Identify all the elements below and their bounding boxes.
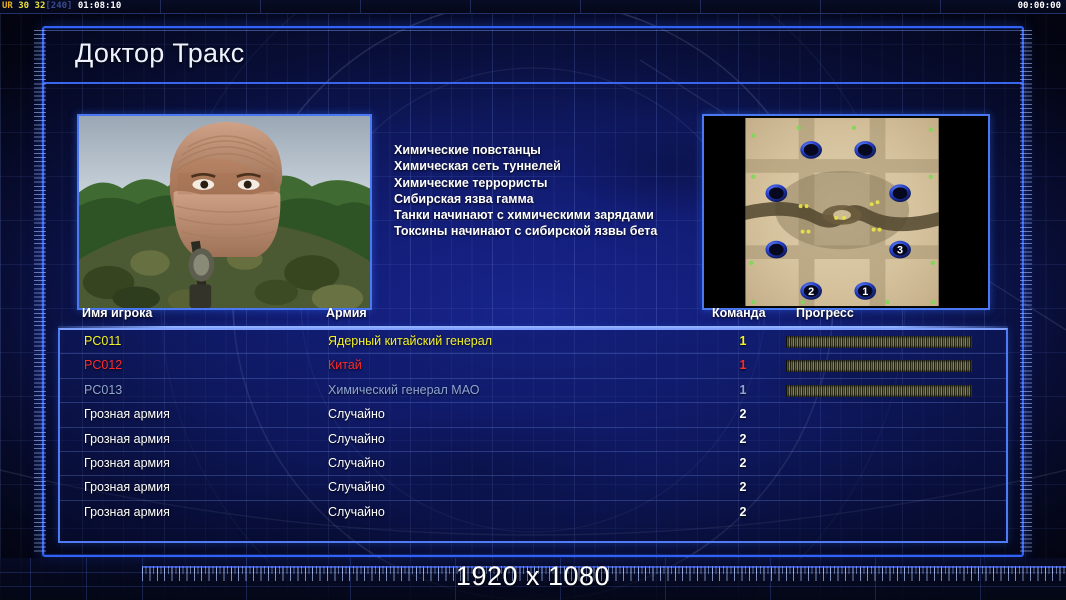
army-cell: Случайно <box>328 456 385 470</box>
map-start-position[interactable] <box>800 141 822 159</box>
team-cell: 1 <box>728 358 758 372</box>
player-name-cell: PC011 <box>84 334 121 348</box>
table-row[interactable]: PC012Китай1 <box>60 354 1006 378</box>
army-cell: Случайно <box>328 505 385 519</box>
team-cell: 2 <box>728 407 758 421</box>
team-cell: 2 <box>728 505 758 519</box>
player-name-cell: Грозная армия <box>84 432 170 446</box>
army-cell: Случайно <box>328 407 385 421</box>
table-row[interactable]: Грозная армияСлучайно2 <box>60 476 1006 500</box>
table-row[interactable]: Грозная армияСлучайно2 <box>60 403 1006 427</box>
map-start-position[interactable] <box>765 241 787 259</box>
player-name-cell: Грозная армия <box>84 480 170 494</box>
column-header-team: Команда <box>712 306 766 320</box>
character-portrait <box>77 114 372 310</box>
description-line: Химические террористы <box>394 175 724 191</box>
main-panel: Доктор Тракс <box>42 26 1024 557</box>
player-name-cell: Грозная армия <box>84 505 170 519</box>
map-start-position[interactable]: 3 <box>889 241 911 259</box>
player-name-cell: Грозная армия <box>84 407 170 421</box>
team-cell: 2 <box>728 456 758 470</box>
army-cell: Ядерный китайский генерал <box>328 334 492 348</box>
stat-elapsed-time: 01:08:10 <box>78 1 121 11</box>
faction-description: Химические повстанцы Химическая сеть тун… <box>394 142 724 240</box>
description-line: Химические повстанцы <box>394 142 724 158</box>
map-start-position[interactable]: 1 <box>854 282 876 300</box>
start-position-label: 1 <box>862 286 868 298</box>
ruler-left <box>34 30 46 554</box>
description-line: Токсины начинают с сибирской язвы бета <box>394 223 724 239</box>
description-line: Танки начинают с химическими зарядами <box>394 207 724 223</box>
table-row[interactable]: PC013Химический генерал МАО1 <box>60 379 1006 403</box>
progress-cell <box>786 336 972 348</box>
team-cell: 1 <box>728 334 758 348</box>
hud-top-bar: UR 30 32[240] 01:08:10 00:00:00 <box>0 0 1066 14</box>
description-line: Сибирская язва гамма <box>394 191 724 207</box>
army-cell: Химический генерал МАО <box>328 383 479 397</box>
player-name-cell: Грозная армия <box>84 456 170 470</box>
stat-value-a: 30 <box>18 1 29 11</box>
map-start-position[interactable] <box>889 184 911 202</box>
match-timer: 00:00:00 <box>1018 1 1061 11</box>
table-header-row: Имя игрока Армия Команда Прогресс <box>44 304 1022 328</box>
team-cell: 1 <box>728 383 758 397</box>
column-header-progress: Прогресс <box>796 306 854 320</box>
start-position-label: 3 <box>897 245 903 257</box>
player-name-cell: PC013 <box>84 383 122 397</box>
ruler-right <box>1020 30 1032 554</box>
map-preview[interactable]: 321 <box>702 114 990 310</box>
player-name-cell: PC012 <box>84 358 122 372</box>
game-lobby-screen: Доктор Тракс <box>0 0 1066 600</box>
player-table: PC011Ядерный китайский генерал1PC012Кита… <box>58 328 1008 543</box>
map-start-position[interactable] <box>765 184 787 202</box>
army-cell: Случайно <box>328 432 385 446</box>
column-header-army: Армия <box>326 306 367 320</box>
progress-bar <box>786 385 972 397</box>
map-start-position[interactable]: 2 <box>800 282 822 300</box>
resolution-label: 1920 x 1080 <box>0 561 1066 592</box>
progress-bar <box>786 360 972 372</box>
page-title: Доктор Тракс <box>75 38 245 69</box>
performance-stats: UR 30 32[240] 01:08:10 <box>2 1 121 11</box>
progress-cell <box>786 360 972 372</box>
table-row[interactable]: PC011Ядерный китайский генерал1 <box>60 330 1006 354</box>
media-row: Химические повстанцы Химическая сеть тун… <box>44 86 1022 302</box>
table-row[interactable]: Грозная армияСлучайно2 <box>60 452 1006 476</box>
team-cell: 2 <box>728 480 758 494</box>
army-cell: Случайно <box>328 480 385 494</box>
stat-value-b: 32 <box>35 1 46 11</box>
stat-label-ur: UR <box>2 1 13 11</box>
column-header-name: Имя игрока <box>82 306 152 320</box>
stat-value-c: [240] <box>45 1 72 11</box>
table-row[interactable]: Грозная армияСлучайно2 <box>60 428 1006 452</box>
team-cell: 2 <box>728 432 758 446</box>
title-bar: Доктор Тракс <box>44 28 1022 84</box>
progress-cell <box>786 385 972 397</box>
progress-bar <box>786 336 972 348</box>
description-line: Химическая сеть туннелей <box>394 158 724 174</box>
map-start-position[interactable] <box>854 141 876 159</box>
table-row[interactable]: Грозная армияСлучайно2 <box>60 501 1006 525</box>
army-cell: Китай <box>328 358 362 372</box>
start-position-label: 2 <box>808 286 814 298</box>
